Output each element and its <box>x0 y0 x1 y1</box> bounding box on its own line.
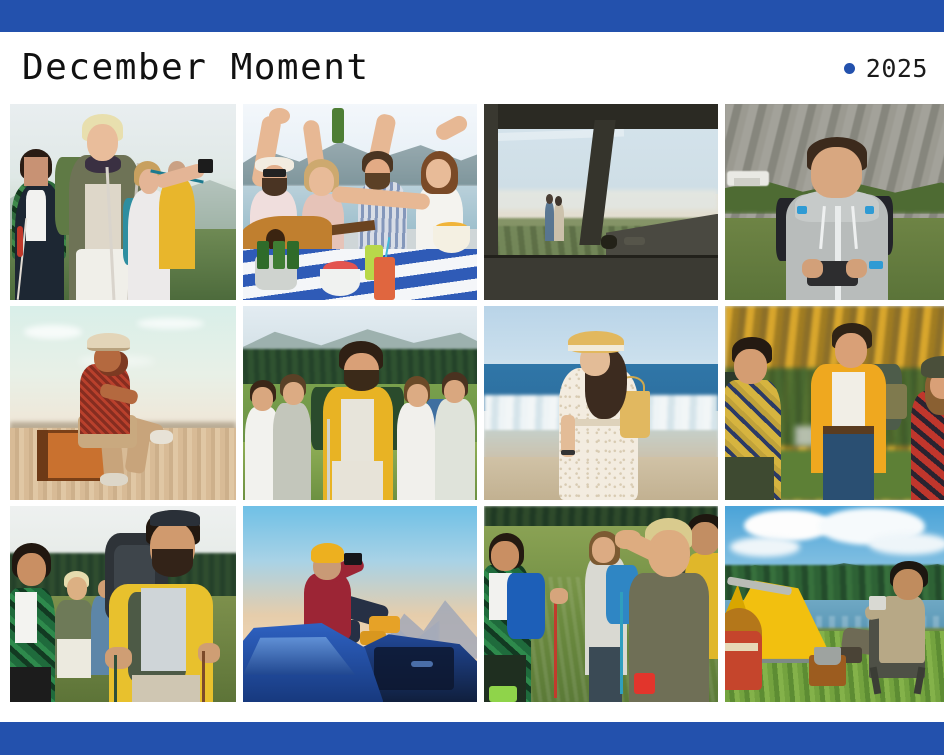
photo-suitcase-desert <box>10 306 236 500</box>
photo-lake-camping-tent <box>725 506 944 702</box>
photo-car-roof-sunset <box>243 506 477 702</box>
photo-cell-11[interactable] <box>484 506 718 702</box>
photo-woman-beach-strawhat <box>484 306 718 500</box>
photo-cell-3[interactable] <box>484 104 718 300</box>
photo-cell-2[interactable] <box>243 104 477 300</box>
bottom-accent-bar <box>0 722 944 755</box>
photo-cell-9[interactable] <box>10 506 236 702</box>
photo-hiking-selfie <box>10 104 236 300</box>
photo-cell-10[interactable] <box>243 506 477 702</box>
year-badge: 2025 <box>844 56 930 81</box>
top-accent-bar <box>0 0 944 32</box>
photo-cell-4[interactable] <box>725 104 944 300</box>
photo-cell-7[interactable] <box>484 306 718 500</box>
photo-grid <box>10 104 944 702</box>
photo-drone-pilot-cliff <box>725 104 944 300</box>
photo-beach-picnic-party <box>243 104 477 300</box>
poster-header: December Moment 2025 <box>0 32 944 104</box>
poster-page: December Moment 2025 <box>0 0 944 755</box>
photo-cell-5[interactable] <box>10 306 236 500</box>
bullet-dot-icon <box>844 63 855 74</box>
photo-autumn-hikers <box>725 306 944 500</box>
photo-cell-12[interactable] <box>725 506 944 702</box>
photo-backpacker-meadow <box>10 506 236 702</box>
photo-hikers-grass-field <box>484 506 718 702</box>
photo-group-hikers-hills <box>243 306 477 500</box>
photo-cell-8[interactable] <box>725 306 944 500</box>
page-title: December Moment <box>22 50 370 86</box>
photo-cell-1[interactable] <box>10 104 236 300</box>
photo-cell-6[interactable] <box>243 306 477 500</box>
year-label: 2025 <box>866 56 928 81</box>
photo-van-window-couple <box>484 104 718 300</box>
